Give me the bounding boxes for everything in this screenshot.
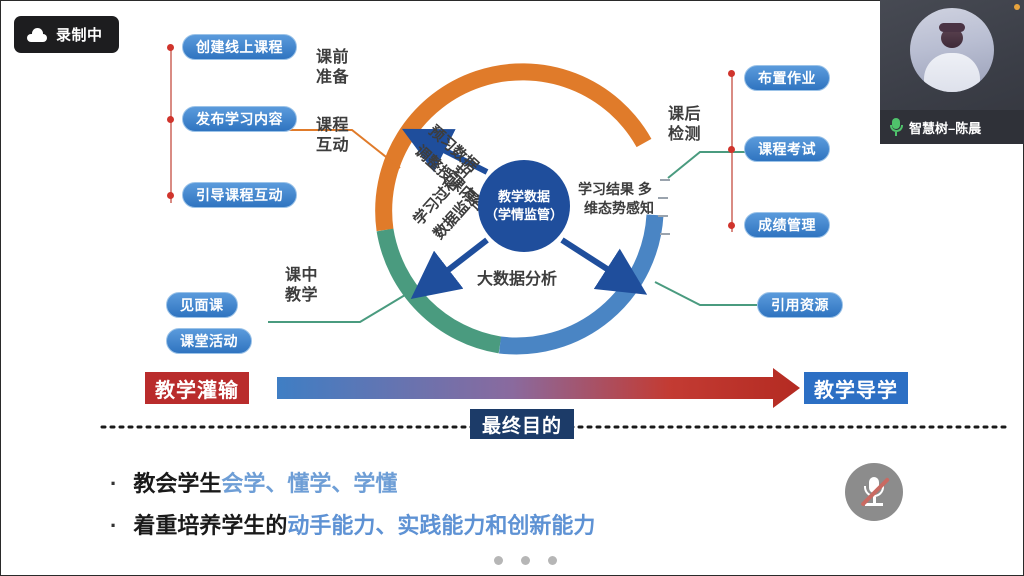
pill-assign-homework[interactable]: 布置作业 — [744, 65, 830, 91]
section-post-class-test: 课后 检测 — [668, 105, 701, 145]
left-bullet-dot-1 — [167, 44, 174, 51]
bullet-row-2: · 着重培养学生的动手能力、实践能力和创新能力 — [110, 508, 595, 540]
participant-name: 智慧树–陈晨 — [909, 118, 981, 137]
bullet-row-1: · 教会学生会学、懂学、学懂 — [110, 466, 397, 498]
section-line-2: 检测 — [668, 125, 701, 145]
ring-text-result: 学习结果 多 维态势感知 — [578, 180, 654, 218]
core-line-2: （学情监管） — [485, 206, 563, 224]
status-indicator-dot — [1014, 4, 1020, 10]
section-line-2: 互动 — [316, 136, 349, 156]
participant-video-tile[interactable]: 智慧树–陈晨 — [880, 0, 1024, 144]
section-line-1: 课前 — [316, 48, 349, 68]
participant-name-bar: 智慧树–陈晨 — [880, 110, 1024, 144]
section-line-1: 课后 — [668, 105, 701, 125]
mute-toggle-button[interactable] — [845, 463, 903, 521]
avatar — [910, 8, 994, 92]
pill-publish-learning-content[interactable]: 发布学习内容 — [182, 106, 297, 132]
bullet-text-dark: 着重培养学生的 — [133, 513, 287, 538]
pill-face-to-face-class[interactable]: 见面课 — [166, 292, 238, 318]
right-bullet-dot-1 — [728, 70, 735, 77]
section-in-class-teaching: 课中 教学 — [285, 266, 318, 306]
ring-text-result-1: 学习结果 多 — [578, 180, 654, 199]
pill-cited-resources[interactable]: 引用资源 — [757, 292, 843, 318]
pill-label: 发布学习内容 — [196, 109, 283, 129]
pill-create-online-course[interactable]: 创建线上课程 — [182, 34, 297, 60]
bullet-text-blue: 动手能力、实践能力和创新能力 — [287, 513, 595, 538]
left-bullet-dot-3 — [167, 192, 174, 199]
recording-badge: 录制中 — [14, 16, 119, 53]
pill-label: 见面课 — [180, 295, 224, 315]
page-dot[interactable] — [521, 556, 530, 565]
section-line-2: 教学 — [285, 286, 318, 306]
pill-label: 成绩管理 — [758, 215, 816, 235]
pill-label: 布置作业 — [758, 68, 816, 88]
pill-label: 课堂活动 — [180, 331, 238, 351]
right-bullet-dot-3 — [728, 222, 735, 229]
pill-grade-management[interactable]: 成绩管理 — [744, 212, 830, 238]
section-line-1: 课程 — [316, 116, 349, 136]
transition-from-label: 教学灌输 — [155, 374, 239, 403]
pill-label: 创建线上课程 — [196, 37, 283, 57]
connector-green-right-bottom — [655, 282, 758, 305]
pill-guide-course-interaction[interactable]: 引导课程互动 — [182, 182, 297, 208]
section-course-interaction: 课程 互动 — [316, 116, 349, 156]
pill-label: 课程考试 — [758, 139, 816, 159]
microphone-icon — [889, 118, 903, 136]
page-indicator-dots[interactable] — [494, 556, 557, 565]
core-circle: 教学数据 （学情监管） — [478, 160, 570, 252]
transition-arrow — [277, 368, 800, 408]
bullet-text-dark: 教会学生 — [133, 471, 221, 496]
ring-text-big-data-analysis: 大数据分析 — [477, 265, 557, 289]
cloud-icon — [27, 28, 47, 42]
section-line-2: 准备 — [316, 68, 349, 88]
pill-course-exam[interactable]: 课程考试 — [744, 136, 830, 162]
bullet-text-blue: 会学、懂学、学懂 — [221, 471, 397, 496]
pill-classroom-activity[interactable]: 课堂活动 — [166, 328, 252, 354]
transition-from-box: 教学灌输 — [145, 372, 249, 404]
core-line-1: 教学数据 — [498, 188, 550, 206]
arrow-to-result — [562, 240, 632, 285]
ring-text-result-2: 维态势感知 — [578, 199, 654, 218]
final-goal-label: 最终目的 — [482, 411, 562, 438]
screen-root: 预习数据 调整授课内容 学习过程性 数据监测 创建线上课程 发布学习内容 引导课… — [0, 0, 1024, 576]
transition-to-box: 教学导学 — [804, 372, 908, 404]
right-bullet-dot-2 — [728, 146, 735, 153]
recording-label: 录制中 — [56, 24, 103, 45]
transition-to-label: 教学导学 — [814, 374, 898, 403]
right-rail — [731, 74, 733, 232]
bullet-marker: · — [110, 473, 117, 495]
bullet-marker: · — [110, 515, 117, 537]
page-dot[interactable] — [548, 556, 557, 565]
page-dot[interactable] — [494, 556, 503, 565]
left-bullet-dot-2 — [167, 116, 174, 123]
section-pre-class-prep: 课前 准备 — [316, 48, 349, 88]
section-line-1: 课中 — [285, 266, 318, 286]
final-goal-box: 最终目的 — [470, 409, 574, 439]
left-rail — [170, 48, 172, 203]
pill-label: 引导课程互动 — [196, 185, 283, 205]
pill-label: 引用资源 — [771, 295, 829, 315]
